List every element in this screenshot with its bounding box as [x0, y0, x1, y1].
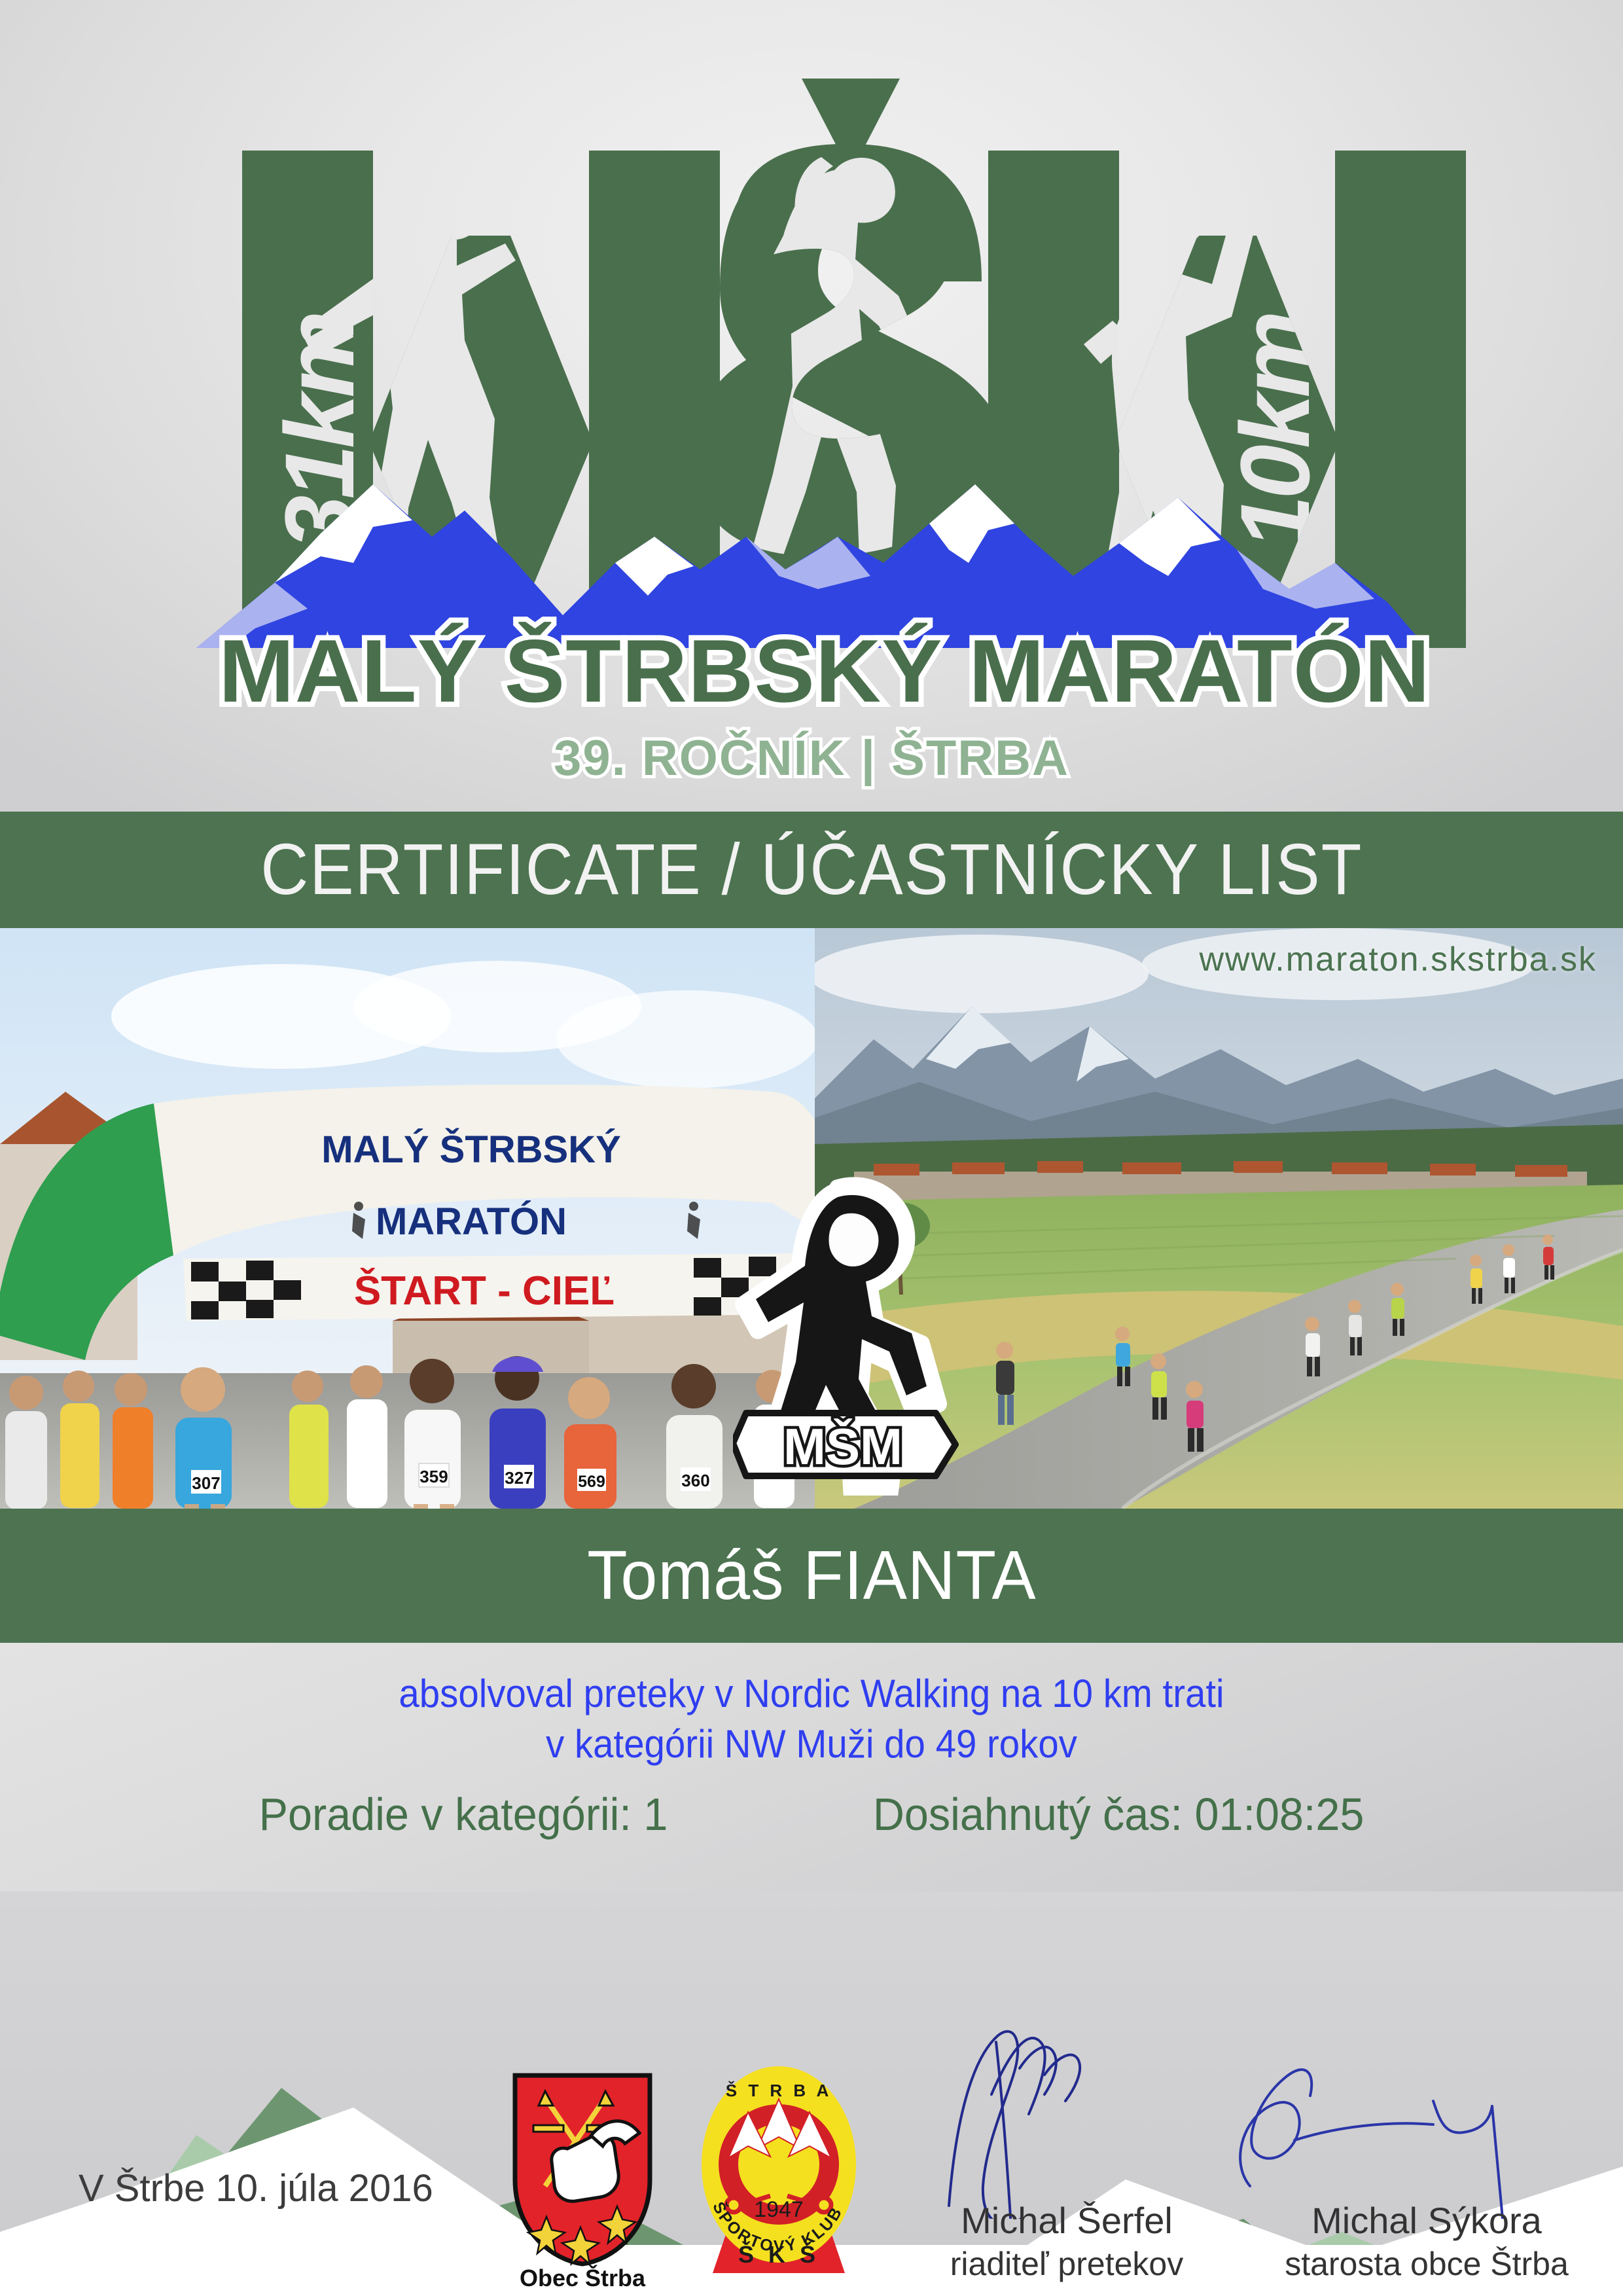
- place-and-date: V Štrbe 10. júla 2016: [79, 2166, 433, 2210]
- svg-text:360: 360: [681, 1471, 709, 1490]
- club-top-text: Š T R B A: [726, 2081, 832, 2100]
- start-finish-banner: ŠTART - CIEĽ: [183, 1253, 815, 1321]
- category-rank: Poradie v kategórii: 1: [259, 1788, 668, 1840]
- strba-coat-of-arms-icon: [507, 2072, 658, 2268]
- arch-banner-line1: MALÝ ŠTRBSKÝ: [321, 1128, 621, 1171]
- logo-artwork: 31km: [157, 39, 1466, 798]
- finish-time: Dosiahnutý čas: 01:08:25: [873, 1788, 1364, 1840]
- arch-banner-line2: MARATÓN: [376, 1200, 567, 1243]
- athlete-name: Tomáš FIANTA: [587, 1536, 1037, 1615]
- logo-event-title: MALÝ ŠTRBSKÝ MARATÓN: [219, 621, 1431, 721]
- certificate-title: CERTIFICATE / ÚČASTNÍCKY LIST: [260, 834, 1363, 906]
- club-year: 1947: [754, 2197, 804, 2222]
- photo-start-line: MALÝ ŠTRBSKÝ MARATÓN: [0, 928, 815, 1509]
- achievement-description: absolvoval preteky v Nordic Walking na 1…: [48, 1669, 1574, 1770]
- results-row: Poradie v kategórii: 1 Dosiahnutý čas: 0…: [41, 1788, 1582, 1840]
- svg-text:327: 327: [505, 1468, 533, 1488]
- signature-role-director: riaditeľ pretekov: [857, 2245, 1276, 2283]
- description-line-2: v kategórii NW Muži do 49 rokov: [48, 1719, 1574, 1770]
- description-line-1: absolvoval preteky v Nordic Walking na 1…: [48, 1669, 1574, 1719]
- photo-start-line-art: MALÝ ŠTRBSKÝ MARATÓN: [0, 928, 815, 1509]
- signature-role-mayor: starosta obce Štrba: [1217, 2245, 1623, 2283]
- club-abbrev: Š K Š: [738, 2240, 819, 2268]
- signature-ink-director: [857, 2022, 1276, 2219]
- athlete-name-band: Tomáš FIANTA: [0, 1509, 1623, 1643]
- svg-text:569: 569: [578, 1473, 605, 1491]
- signature-name-mayor: Michal Sýkora: [1217, 2199, 1623, 2242]
- signature-ink-mayor: [1217, 2022, 1623, 2219]
- signature-name-director: Michal Šerfel: [857, 2199, 1276, 2242]
- website-url[interactable]: www.maraton.skstrba.sk: [1200, 940, 1597, 979]
- msm-emblem-text: MŠM: [783, 1418, 902, 1475]
- certificate-footer: V Štrbe 10. júla 2016 Ob: [0, 2049, 1623, 2296]
- logo-right-distance: 10km: [1220, 314, 1330, 550]
- msm-emblem-icon: MŠM: [733, 1175, 969, 1496]
- certificate-page: 31km: [0, 0, 1623, 2296]
- event-logo: 31km: [0, 39, 1623, 798]
- certificate-body: absolvoval preteky v Nordic Walking na 1…: [0, 1643, 1623, 1911]
- arch-banner-line3: ŠTART - CIEĽ: [354, 1268, 615, 1314]
- logo-event-subtitle: 39. ROČNÍK | ŠTRBA: [554, 730, 1069, 787]
- svg-text:359: 359: [419, 1467, 448, 1486]
- svg-text:307: 307: [192, 1473, 220, 1493]
- crest-caption: Obec Štrba: [507, 2265, 658, 2292]
- sks-club-logo-icon: 1947 Š T R B A ŠPORTOVÝ KLUB Š K Š: [697, 2065, 861, 2274]
- certificate-title-band: CERTIFICATE / ÚČASTNÍCKY LIST: [0, 812, 1623, 928]
